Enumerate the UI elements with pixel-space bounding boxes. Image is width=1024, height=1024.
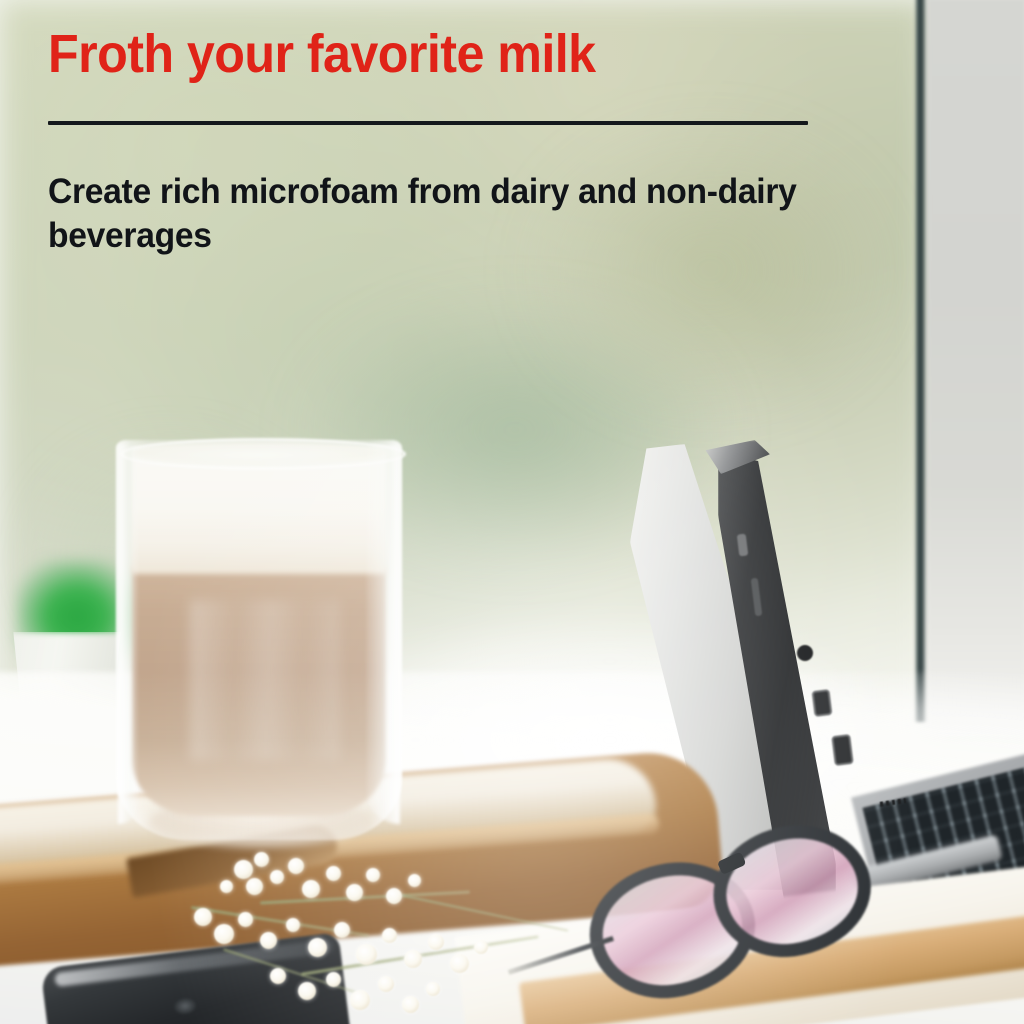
greenery-blur-blob — [520, 120, 900, 420]
flower-bloom — [474, 940, 488, 954]
flower-bloom — [350, 990, 370, 1010]
flower-bloom — [450, 954, 469, 973]
flower-bloom — [288, 858, 304, 874]
title-divider — [48, 121, 808, 125]
product-lifestyle-photo — [0, 0, 1024, 1024]
flower-bloom — [220, 880, 233, 893]
flower-bloom — [408, 874, 421, 887]
flower-bloom — [246, 878, 263, 895]
flower-bloom — [270, 870, 284, 884]
glass-wall-left — [118, 444, 138, 824]
flower-bloom — [356, 944, 377, 965]
flower-bloom — [334, 922, 350, 938]
flower-bloom — [366, 868, 380, 882]
glass-wall-right — [366, 444, 400, 824]
window-frame-mullion — [915, 0, 926, 722]
flower-bloom — [402, 996, 419, 1013]
flower-stem — [402, 894, 569, 931]
flower-bloom — [234, 860, 253, 879]
tablet-port — [811, 689, 832, 717]
flower-bloom — [382, 928, 397, 943]
flower-bloom — [426, 982, 440, 996]
page-title: Froth your favorite milk — [48, 26, 595, 83]
flower-stem — [223, 948, 357, 993]
flower-bloom — [238, 912, 253, 927]
flower-bloom — [326, 866, 341, 881]
flower-bloom — [194, 908, 212, 926]
promo-banner: Froth your favorite milk Create rich mic… — [0, 0, 1024, 1024]
tablet-headphone-jack — [797, 645, 813, 661]
window-panel — [925, 0, 1024, 736]
flower-bloom — [214, 924, 234, 944]
page-subtitle: Create rich microfoam from dairy and non… — [48, 170, 826, 259]
babys-breath-flowers — [150, 850, 630, 1024]
tablet-port — [831, 734, 854, 766]
flower-bloom — [404, 950, 422, 968]
flower-bloom — [302, 880, 320, 898]
flower-bloom — [254, 852, 269, 867]
flower-bloom — [286, 918, 300, 932]
coffee-reflection — [190, 600, 340, 760]
flower-bloom — [270, 968, 286, 984]
flower-bloom — [386, 888, 402, 904]
flower-bloom — [308, 938, 327, 957]
flower-bloom — [260, 932, 277, 949]
flower-bloom — [346, 884, 363, 901]
flower-bloom — [326, 972, 341, 987]
flower-bloom — [378, 976, 394, 992]
glass-rim — [120, 438, 406, 470]
flower-bloom — [298, 982, 316, 1000]
flower-bloom — [428, 934, 444, 950]
